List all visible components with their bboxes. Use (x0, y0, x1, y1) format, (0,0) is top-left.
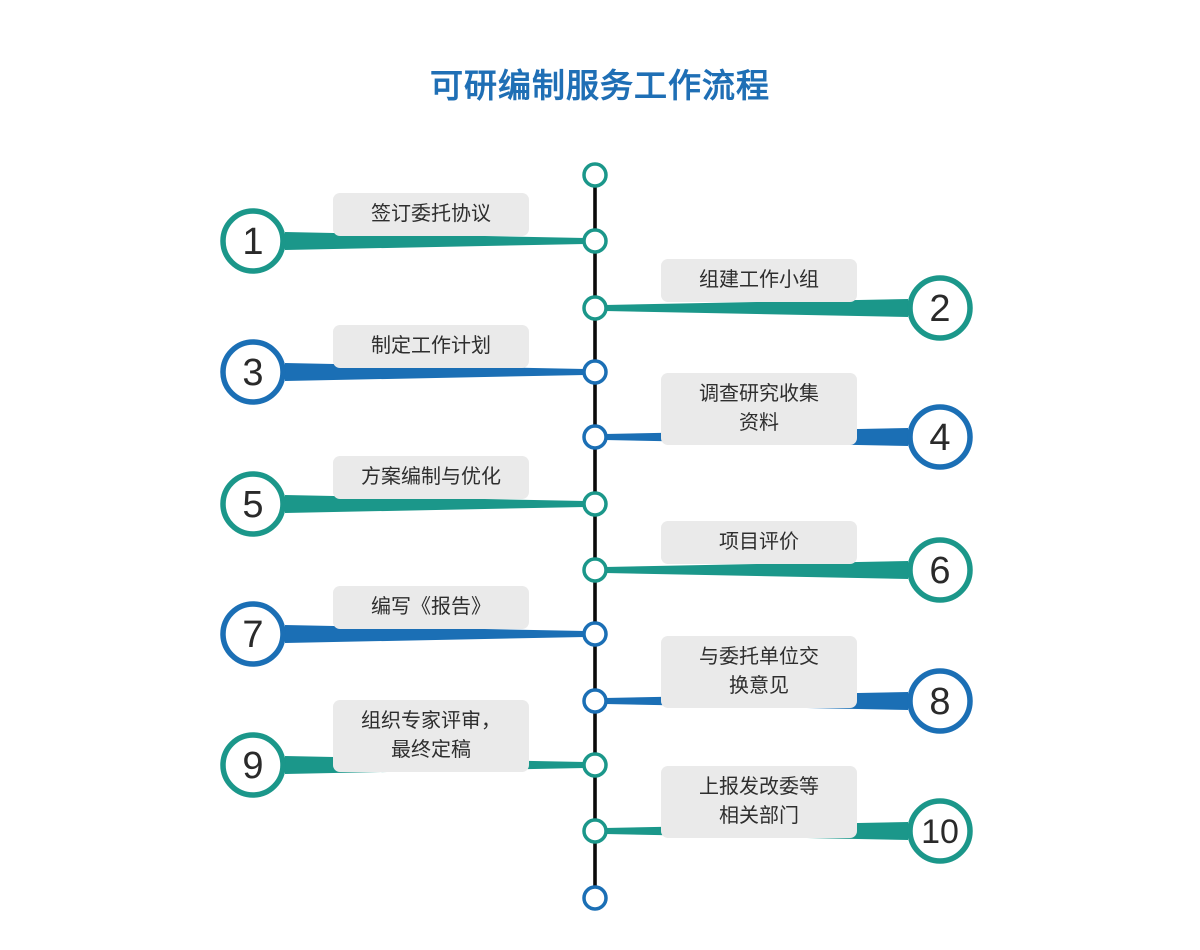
step-label-5: 方案编制与优化 (333, 456, 529, 499)
step-badge-4[interactable]: 4 (910, 407, 970, 467)
step-badge-number-3: 3 (242, 352, 263, 394)
axis-node-3[interactable] (584, 361, 606, 383)
flow-diagram-svg: 12345678910 (0, 0, 1200, 950)
page-title: 可研编制服务工作流程 (0, 66, 1200, 106)
step-badge-number-6: 6 (929, 550, 950, 592)
step-label-1: 签订委托协议 (333, 193, 529, 236)
axis-node-5[interactable] (584, 493, 606, 515)
axis-node-7[interactable] (584, 623, 606, 645)
step-badge-number-9: 9 (242, 745, 263, 787)
step-badge-8[interactable]: 8 (910, 671, 970, 731)
step-label-8: 与委托单位交 换意见 (661, 636, 857, 708)
step-badge-number-4: 4 (929, 417, 950, 459)
step-label-10: 上报发改委等 相关部门 (661, 766, 857, 838)
step-badge-7[interactable]: 7 (223, 604, 283, 664)
axis-node-9[interactable] (584, 754, 606, 776)
diagram-canvas: 12345678910 可研编制服务工作流程 签订委托协议组建工作小组制定工作计… (0, 0, 1200, 950)
axis-group (584, 164, 606, 909)
step-badge-10[interactable]: 10 (910, 801, 970, 861)
axis-node-6[interactable] (584, 559, 606, 581)
step-badge-number-10: 10 (921, 813, 959, 851)
step-badge-number-2: 2 (929, 288, 950, 330)
step-badge-1[interactable]: 1 (223, 211, 283, 271)
step-badge-9[interactable]: 9 (223, 735, 283, 795)
step-badge-3[interactable]: 3 (223, 342, 283, 402)
step-label-6: 项目评价 (661, 521, 857, 564)
step-badge-number-5: 5 (242, 484, 263, 526)
step-badge-5[interactable]: 5 (223, 474, 283, 534)
axis-bottom-endpoint (584, 887, 606, 909)
step-label-4: 调查研究收集 资料 (661, 373, 857, 445)
step-badge-number-1: 1 (242, 221, 263, 263)
step-label-2: 组建工作小组 (661, 259, 857, 302)
axis-node-1[interactable] (584, 230, 606, 252)
step-badge-2[interactable]: 2 (910, 278, 970, 338)
step-label-7: 编写《报告》 (333, 586, 529, 629)
axis-node-10[interactable] (584, 820, 606, 842)
step-badge-number-8: 8 (929, 681, 950, 723)
axis-top-endpoint (584, 164, 606, 186)
step-label-9: 组织专家评审， 最终定稿 (333, 700, 529, 772)
axis-node-2[interactable] (584, 297, 606, 319)
axis-node-8[interactable] (584, 690, 606, 712)
step-badge-number-7: 7 (242, 614, 263, 656)
step-label-3: 制定工作计划 (333, 325, 529, 368)
step-badge-6[interactable]: 6 (910, 540, 970, 600)
axis-node-4[interactable] (584, 426, 606, 448)
